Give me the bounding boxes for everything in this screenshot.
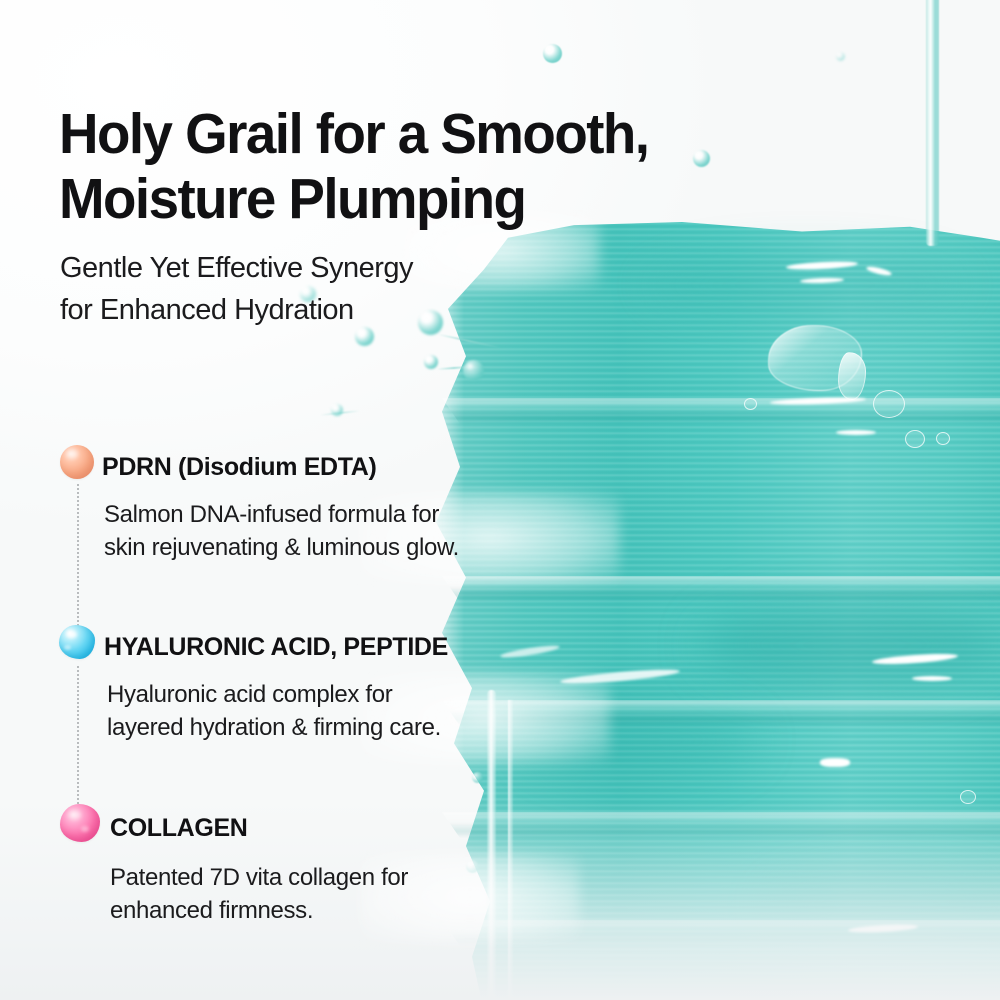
ingredient-heading-row: PDRN (Disodium EDTA) [58, 447, 578, 487]
content-layer: Holy Grail for a Smooth, Moisture Plumpi… [0, 0, 1000, 1000]
ingredient-heading-row: COLLAGEN [58, 808, 578, 848]
ingredient-heading-row: HYALURONIC ACID, PEPTIDE [58, 627, 578, 667]
ingredient-title: HYALURONIC ACID, PEPTIDE [104, 633, 448, 662]
infographic-canvas: Holy Grail for a Smooth, Moisture Plumpi… [0, 0, 1000, 1000]
coral-sphere-icon [60, 445, 94, 479]
ingredient-item-hyaluronic-acid-peptide: HYALURONIC ACID, PEPTIDE Hyaluronic acid… [58, 627, 578, 744]
ingredient-description: Hyaluronic acid complex for layered hydr… [107, 678, 578, 744]
ingredient-list: PDRN (Disodium EDTA) Salmon DNA-infused … [0, 0, 1000, 1000]
pink-blob-icon [60, 804, 100, 842]
ingredient-item-pdrn: PDRN (Disodium EDTA) Salmon DNA-infused … [58, 447, 578, 564]
ingredient-item-collagen: COLLAGEN Patented 7D vita collagen for e… [58, 808, 578, 927]
ingredient-description: Salmon DNA-infused formula for skin reju… [104, 498, 578, 564]
cyan-droplet-icon [59, 625, 95, 659]
ingredient-title: COLLAGEN [110, 814, 247, 843]
ingredient-description: Patented 7D vita collagen for enhanced f… [110, 861, 578, 927]
ingredient-title: PDRN (Disodium EDTA) [102, 453, 376, 482]
